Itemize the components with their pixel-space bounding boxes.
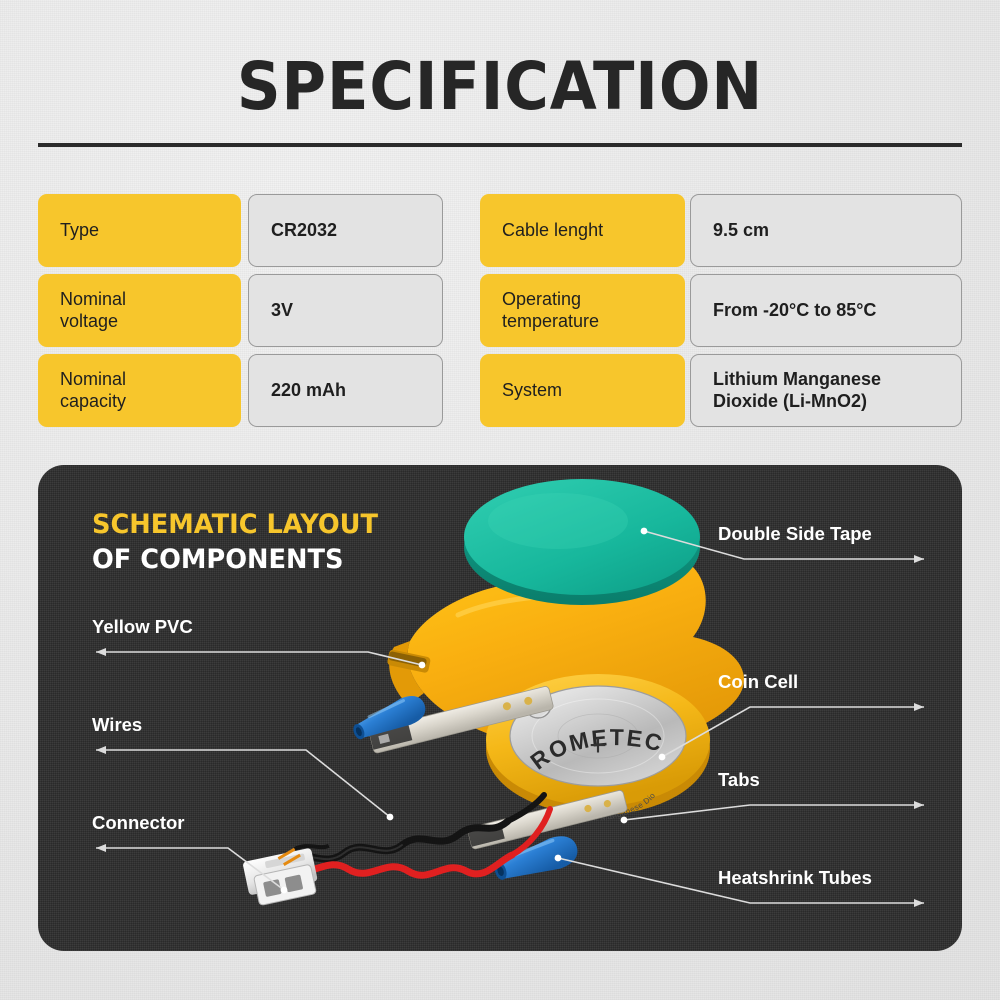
spec-value-text: 9.5 cm [713,220,769,241]
callout-label-yellow-pvc: Yellow PVC [92,616,193,638]
spec-value-nominal-capacity: 220 mAh [248,354,443,427]
callout-label-connector: Connector [92,812,185,834]
callout-label-heatshrink-tubes: Heatshrink Tubes [718,867,872,889]
leader-tabs [621,801,924,823]
spec-label-text: Nominal capacity [60,369,126,411]
infographic-page: SPECIFICATION Type CR2032 Cable lenght 9… [0,0,1000,1000]
column-gap [443,194,480,267]
spec-label-system: System [480,354,685,427]
leader-connector [96,844,287,893]
spec-value-text: 3V [271,300,293,321]
callout-label-coin-cell: Coin Cell [718,671,798,693]
spec-label-text: Type [60,220,99,241]
spec-value-text: Lithium Manganese Dioxide (Li-MnO2) [713,369,881,411]
callout-label-tabs: Tabs [718,769,760,791]
spec-value-cable-lenght: 9.5 cm [690,194,962,267]
spec-label-nominal-voltage: Nominal voltage [38,274,241,347]
schematic-panel: SCHEMATIC LAYOUT OF COMPONENTS [38,465,962,951]
spec-label-text: Cable lenght [502,220,603,241]
spec-value-operating-temperature: From -20°C to 85°C [690,274,962,347]
spec-label-nominal-capacity: Nominal capacity [38,354,241,427]
spec-label-cable-lenght: Cable lenght [480,194,685,267]
leader-coin-cell [659,703,924,760]
leader-yellow-pvc [96,648,425,668]
title-divider [38,143,962,147]
spec-label-type: Type [38,194,241,267]
page-title: SPECIFICATION [40,48,960,125]
spec-value-system: Lithium Manganese Dioxide (Li-MnO2) [690,354,962,427]
spec-label-operating-temperature: Operating temperature [480,274,685,347]
spec-value-text: CR2032 [271,220,337,241]
spec-value-type: CR2032 [248,194,443,267]
leader-wires [96,746,393,820]
callout-label-wires: Wires [92,714,142,736]
spec-value-text: 220 mAh [271,380,346,401]
column-gap [443,354,480,427]
spec-label-text: System [502,380,562,401]
column-gap [443,274,480,347]
spec-value-text: From -20°C to 85°C [713,300,876,321]
spec-label-text: Operating temperature [502,289,599,331]
spec-label-text: Nominal voltage [60,289,126,331]
callout-label-double-side-tape: Double Side Tape [718,523,872,545]
spec-value-nominal-voltage: 3V [248,274,443,347]
specification-table: Type CR2032 Cable lenght 9.5 cm Nominal … [38,194,962,427]
